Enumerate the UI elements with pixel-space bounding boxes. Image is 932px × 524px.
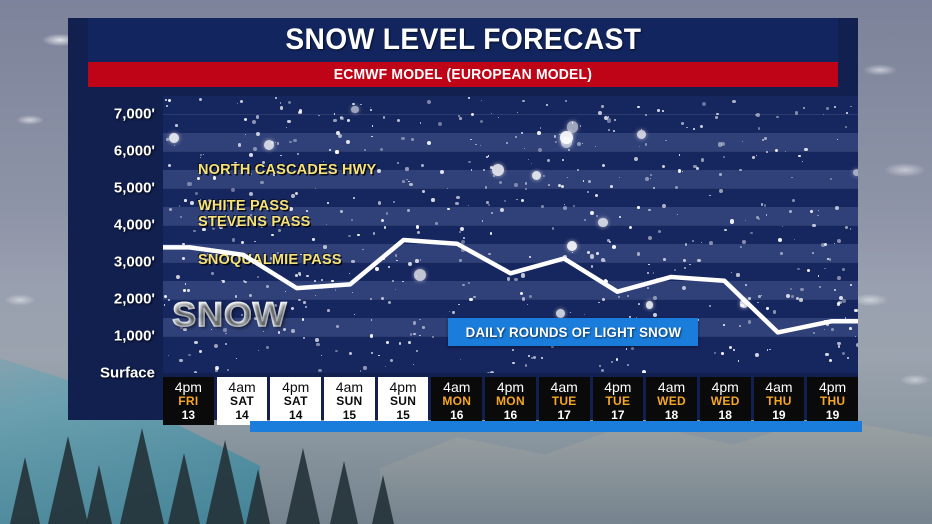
title-bar: SNOW LEVEL FORECAST xyxy=(88,18,838,62)
y-axis-tick: 1,000' xyxy=(65,328,155,345)
time-cell-day: WED xyxy=(657,395,686,409)
conifer-tree xyxy=(206,440,244,524)
conifer-tree xyxy=(168,453,200,524)
time-cell-day: SAT xyxy=(230,395,254,409)
forecast-graphic-panel: SNOW LEVEL FORECAST ECMWF MODEL (EUROPEA… xyxy=(68,18,858,420)
time-axis-cell[interactable]: 4amTUE17 xyxy=(539,377,590,425)
y-axis: 7,000'6,000'5,000'4,000'3,000'2,000'1,00… xyxy=(68,87,163,377)
time-cell-day: MON xyxy=(496,395,525,409)
subtitle-bar: ECMWF MODEL (EUROPEAN MODEL) xyxy=(88,62,838,87)
time-cell-date: 16 xyxy=(504,409,517,422)
time-cell-hour: 4am xyxy=(336,380,363,395)
time-cell-day: THU xyxy=(766,395,792,409)
time-axis-cell[interactable]: 4amSAT14 xyxy=(217,377,268,425)
time-cell-date: 17 xyxy=(557,409,570,422)
time-cell-hour: 4pm xyxy=(819,380,846,395)
time-cell-day: THU xyxy=(820,395,846,409)
time-cell-date: 14 xyxy=(235,409,248,422)
conifer-tree xyxy=(120,428,164,524)
time-cell-hour: 4pm xyxy=(282,380,309,395)
time-cell-hour: 4pm xyxy=(712,380,739,395)
time-cell-day: SAT xyxy=(284,395,308,409)
conifer-tree xyxy=(10,457,40,524)
time-cell-date: 15 xyxy=(343,409,356,422)
conifer-tree xyxy=(48,436,88,524)
y-axis-tick: 2,000' xyxy=(65,291,155,308)
y-axis-tick: 6,000' xyxy=(65,143,155,160)
time-cell-date: 16 xyxy=(450,409,463,422)
time-cell-date: 19 xyxy=(826,409,839,422)
time-cell-hour: 4pm xyxy=(604,380,631,395)
time-cell-day: TUE xyxy=(552,395,577,409)
time-axis-cell[interactable]: 4amWED18 xyxy=(646,377,697,425)
background-conifer-trees xyxy=(0,430,420,524)
time-cell-day: MON xyxy=(442,395,471,409)
time-cell-hour: 4am xyxy=(551,380,578,395)
conifer-tree xyxy=(286,448,320,524)
time-cell-date: 14 xyxy=(289,409,302,422)
time-cell-day: FRI xyxy=(178,395,198,409)
time-cell-date: 13 xyxy=(182,409,195,422)
time-cell-hour: 4pm xyxy=(389,380,416,395)
time-cell-day: SUN xyxy=(336,395,362,409)
time-cell-hour: 4pm xyxy=(497,380,524,395)
conifer-tree xyxy=(330,461,358,524)
y-axis-tick: 4,000' xyxy=(65,217,155,234)
conifer-tree xyxy=(246,469,270,524)
time-cell-hour: 4am xyxy=(765,380,792,395)
time-cell-day: SUN xyxy=(390,395,416,409)
time-axis-cell[interactable]: 4pmSAT14 xyxy=(270,377,321,425)
conifer-tree xyxy=(86,465,112,524)
time-axis-cell[interactable]: 4pmFRI13 xyxy=(163,377,214,425)
time-axis-cell[interactable]: 4pmWED18 xyxy=(700,377,751,425)
bottom-accent-bar xyxy=(250,421,862,432)
time-cell-day: WED xyxy=(711,395,740,409)
chart-plot-area: NORTH CASCADES HWYWHITE PASSSTEVENS PASS… xyxy=(163,96,858,373)
time-cell-date: 18 xyxy=(719,409,732,422)
time-cell-date: 18 xyxy=(665,409,678,422)
time-axis-cell[interactable]: 4pmMON16 xyxy=(485,377,536,425)
time-axis-cell[interactable]: 4amTHU19 xyxy=(754,377,805,425)
conifer-tree xyxy=(372,475,394,524)
y-axis-tick: 5,000' xyxy=(65,180,155,197)
time-cell-hour: 4am xyxy=(228,380,255,395)
time-cell-hour: 4pm xyxy=(175,380,202,395)
time-axis: 4pmFRI134amSAT144pmSAT144amSUN154pmSUN15… xyxy=(163,377,858,425)
page-title: SNOW LEVEL FORECAST xyxy=(285,23,641,57)
time-cell-date: 15 xyxy=(396,409,409,422)
snow-level-line xyxy=(163,240,858,332)
time-cell-date: 17 xyxy=(611,409,624,422)
y-axis-tick: 7,000' xyxy=(65,106,155,123)
y-axis-tick: Surface xyxy=(65,365,155,382)
time-axis-cell[interactable]: 4amSUN15 xyxy=(324,377,375,425)
time-cell-hour: 4am xyxy=(443,380,470,395)
y-axis-tick: 3,000' xyxy=(65,254,155,271)
time-cell-date: 19 xyxy=(772,409,785,422)
time-axis-cell[interactable]: 4amMON16 xyxy=(431,377,482,425)
time-cell-hour: 4am xyxy=(658,380,685,395)
time-cell-day: TUE xyxy=(605,395,630,409)
model-subtitle: ECMWF MODEL (EUROPEAN MODEL) xyxy=(334,66,592,83)
time-axis-cell[interactable]: 4pmSUN15 xyxy=(378,377,429,425)
snow-level-line-chart xyxy=(163,96,858,373)
time-axis-cell[interactable]: 4pmTUE17 xyxy=(593,377,644,425)
time-axis-cell[interactable]: 4pmTHU19 xyxy=(807,377,858,425)
